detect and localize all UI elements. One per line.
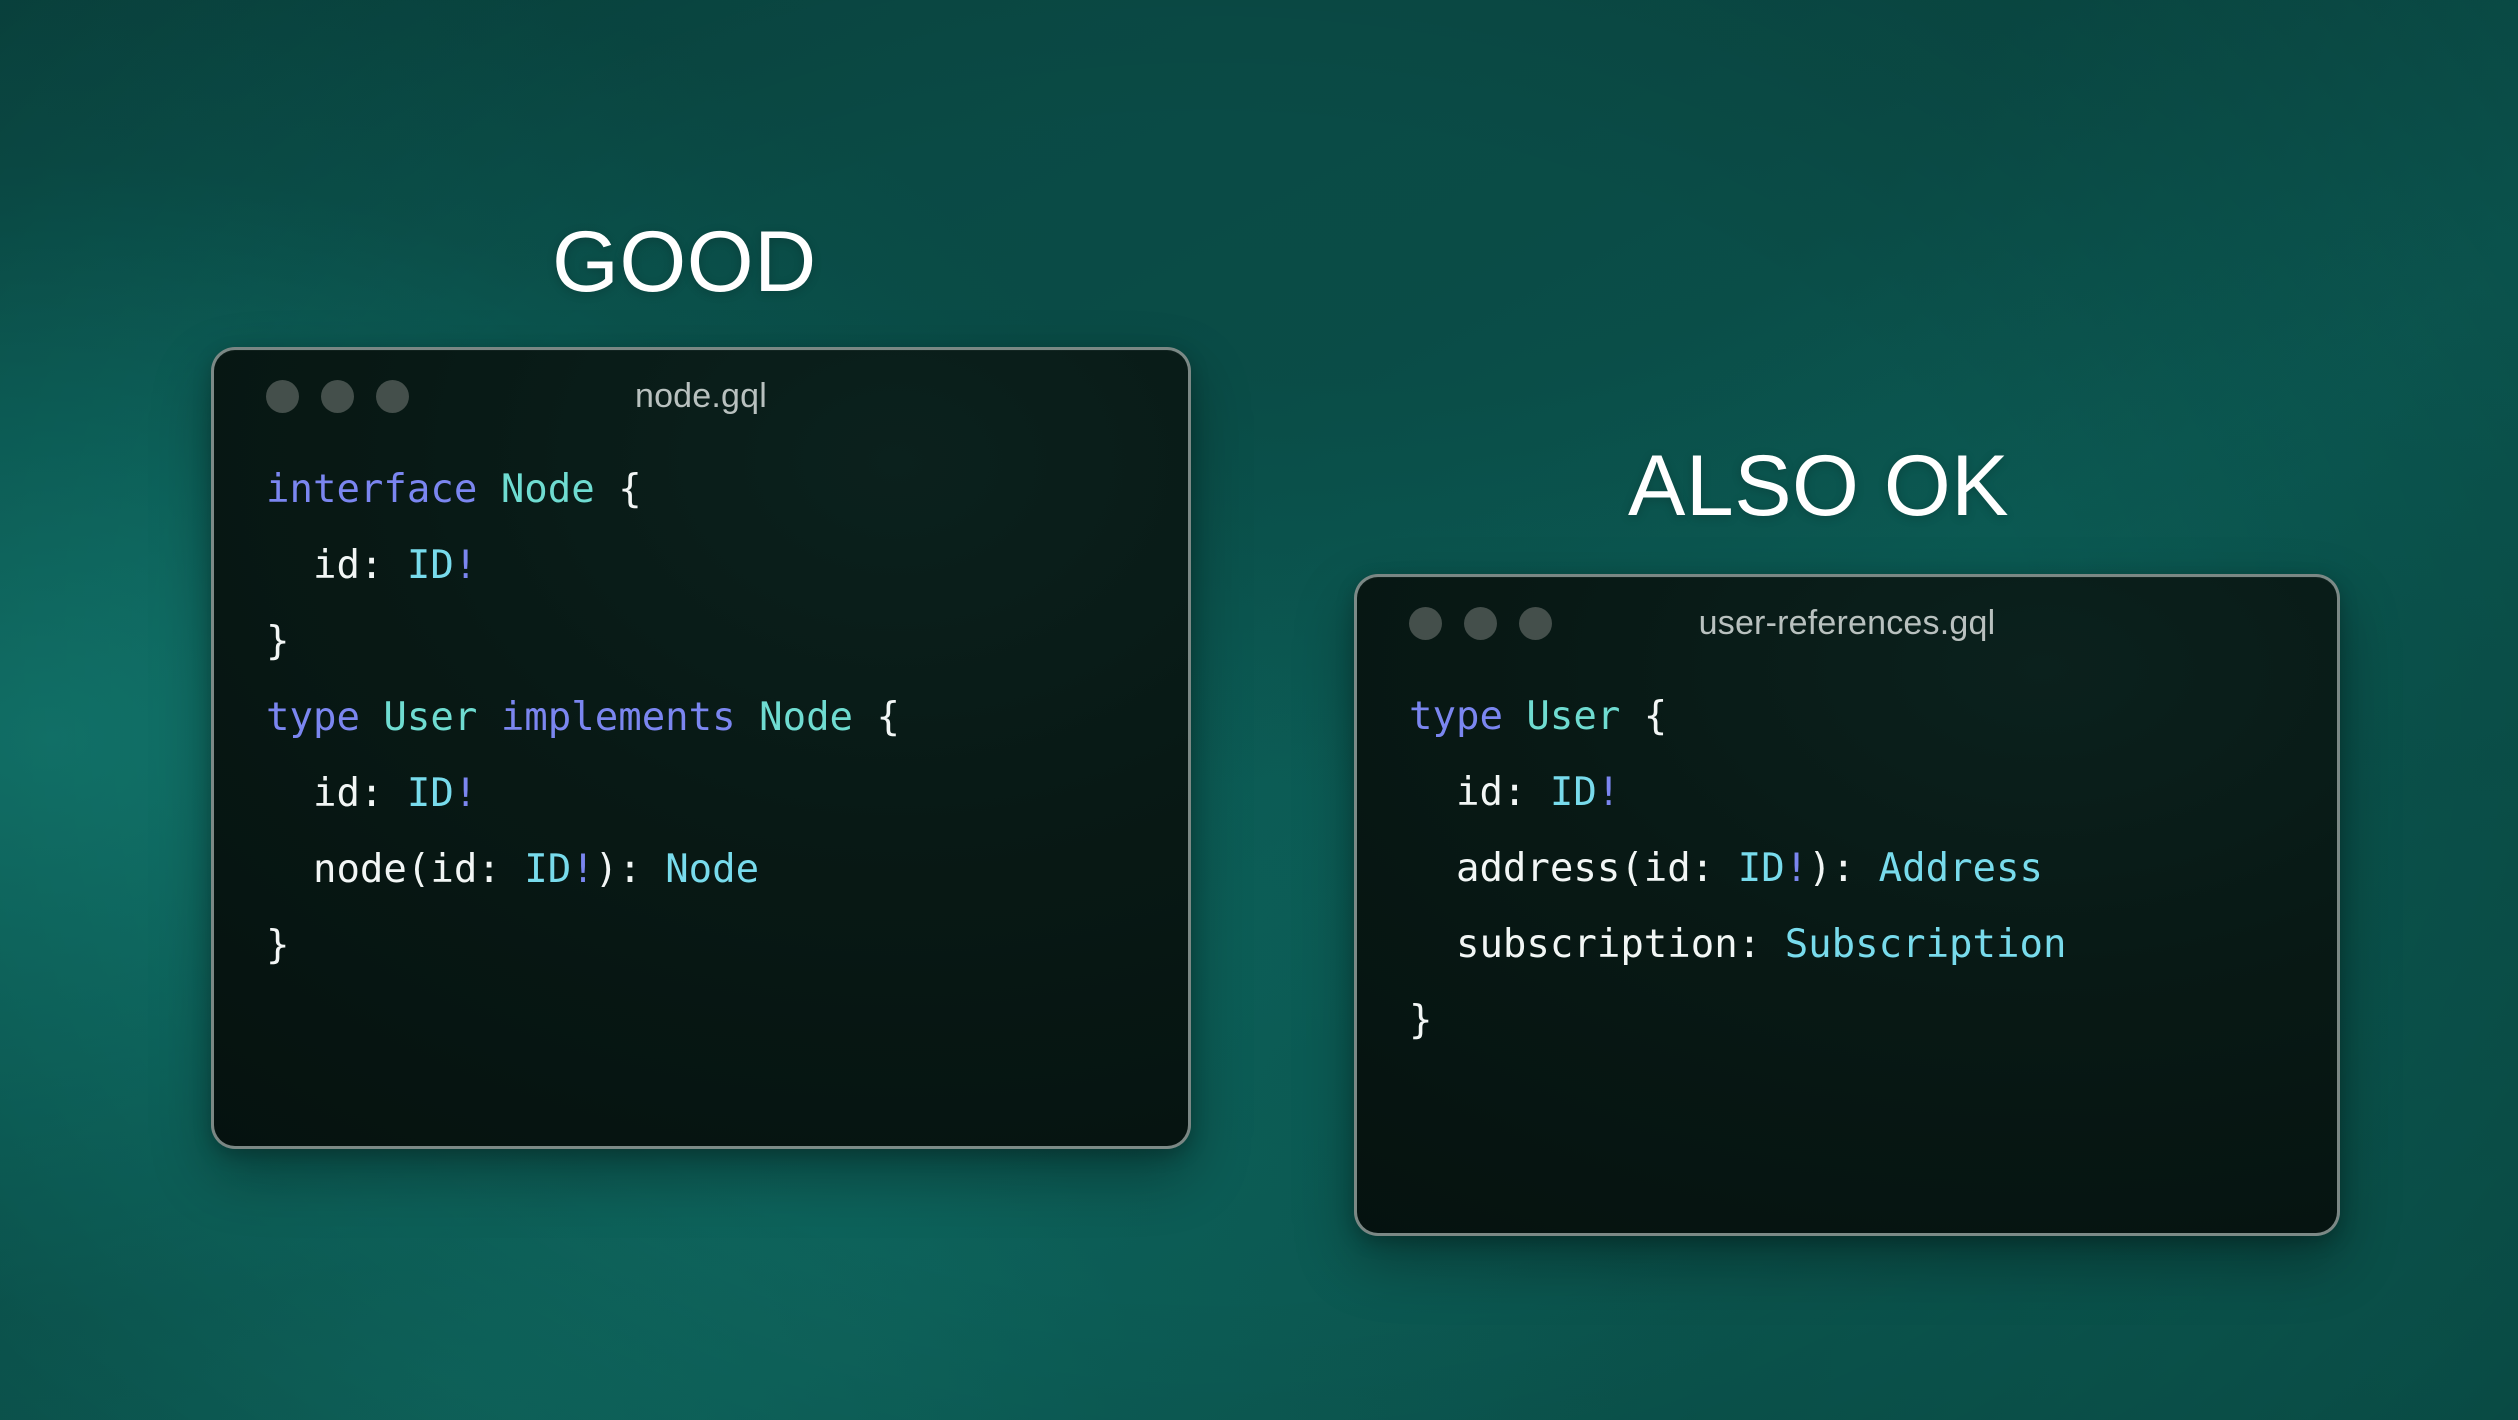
- code-line: id: ID!: [1409, 755, 2337, 831]
- code-token: id:: [266, 543, 407, 588]
- code-token: {: [595, 467, 642, 512]
- code-token: !: [454, 771, 477, 816]
- code-token: ID: [524, 847, 571, 892]
- code-token: ID: [407, 543, 454, 588]
- code-token: ID: [1738, 846, 1785, 891]
- code-token: id:: [1409, 770, 1550, 815]
- code-token: ):: [1808, 846, 1878, 891]
- close-dot-icon[interactable]: [266, 380, 299, 413]
- minimize-dot-icon[interactable]: [1464, 607, 1497, 640]
- code-token: !: [1597, 770, 1620, 815]
- code-token: !: [571, 847, 594, 892]
- code-token: [736, 695, 759, 740]
- code-token: }: [266, 619, 289, 664]
- code-token: User: [383, 695, 477, 740]
- code-token: }: [1409, 998, 1432, 1043]
- code-line: interface Node {: [266, 452, 1188, 528]
- code-token: ID: [1550, 770, 1597, 815]
- code-window-also-ok: user-references.gql type User { id: ID! …: [1354, 574, 2340, 1236]
- code-token: ):: [595, 847, 665, 892]
- code-token: type: [1409, 694, 1503, 739]
- panel-heading-good: GOOD: [552, 219, 817, 305]
- code-line: }: [266, 604, 1188, 680]
- code-token: [477, 695, 500, 740]
- code-token: Node: [665, 847, 759, 892]
- code-window-good: node.gql interface Node { id: ID!}type U…: [211, 347, 1191, 1149]
- code-line: }: [1409, 983, 2337, 1059]
- code-token: !: [1785, 846, 1808, 891]
- code-token: Node: [501, 467, 595, 512]
- traffic-light-dots: [266, 380, 409, 413]
- code-token: ID: [407, 771, 454, 816]
- code-token: [477, 467, 500, 512]
- code-line: address(id: ID!): Address: [1409, 831, 2337, 907]
- code-token: type: [266, 695, 360, 740]
- code-token: !: [454, 543, 477, 588]
- code-token: [360, 695, 383, 740]
- traffic-light-dots: [1409, 607, 1552, 640]
- code-window-titlebar: node.gql: [214, 350, 1188, 442]
- panel-heading-also-ok: ALSO OK: [1628, 443, 2009, 529]
- minimize-dot-icon[interactable]: [321, 380, 354, 413]
- code-line: id: ID!: [266, 528, 1188, 604]
- code-token: node(id:: [266, 847, 524, 892]
- code-token: User: [1526, 694, 1620, 739]
- close-dot-icon[interactable]: [1409, 607, 1442, 640]
- code-token: Address: [1879, 846, 2043, 891]
- code-line: }: [266, 908, 1188, 984]
- maximize-dot-icon[interactable]: [376, 380, 409, 413]
- code-token: }: [266, 923, 289, 968]
- code-token: Node: [759, 695, 853, 740]
- code-token: interface: [266, 467, 477, 512]
- code-token: subscription:: [1409, 922, 1785, 967]
- code-block-user-references-gql: type User { id: ID! address(id: ID!): Ad…: [1357, 669, 2337, 1059]
- code-token: id:: [266, 771, 407, 816]
- code-token: {: [1620, 694, 1667, 739]
- code-token: Subscription: [1785, 922, 2067, 967]
- code-line: type User implements Node {: [266, 680, 1188, 756]
- code-token: [1503, 694, 1526, 739]
- slide-canvas: GOOD node.gql interface Node { id: ID!}t…: [0, 0, 2518, 1420]
- code-token: {: [853, 695, 900, 740]
- code-line: subscription: Subscription: [1409, 907, 2337, 983]
- code-token: address(id:: [1409, 846, 1738, 891]
- code-line: node(id: ID!): Node: [266, 832, 1188, 908]
- code-window-titlebar: user-references.gql: [1357, 577, 2337, 669]
- code-block-node-gql: interface Node { id: ID!}type User imple…: [214, 442, 1188, 984]
- maximize-dot-icon[interactable]: [1519, 607, 1552, 640]
- code-token: implements: [501, 695, 736, 740]
- code-line: id: ID!: [266, 756, 1188, 832]
- code-line: type User {: [1409, 679, 2337, 755]
